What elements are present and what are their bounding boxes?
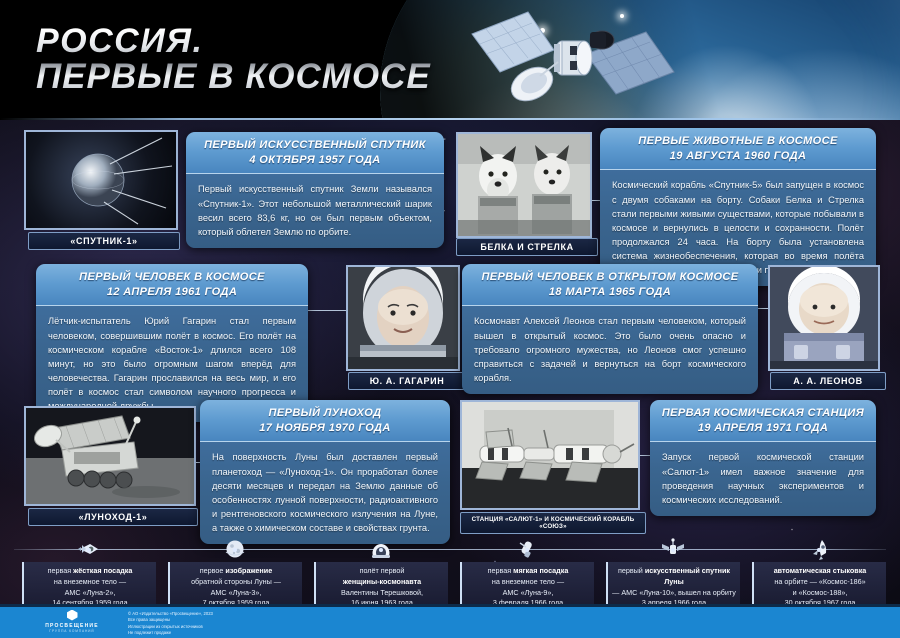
sputnik-photo: [24, 130, 178, 230]
dogs-photo: [456, 132, 592, 238]
timeline-tick: [671, 548, 675, 552]
title-line-1: РОССИЯ.: [36, 22, 203, 60]
footer-top-rule: [0, 604, 900, 607]
timeline-axis: [14, 549, 886, 550]
timeline-tick: [817, 548, 821, 552]
timeline-bold-1: искусственный спутник Луны: [645, 566, 730, 586]
timeline-line-2: на внеземное тело —: [492, 577, 564, 586]
card-header: ПЕРВЫЙ ИСКУССТВЕННЫЙ СПУТНИК 4 ОКТЯБРЯ 1…: [186, 132, 444, 174]
leonov-spacesuit-art: [770, 267, 878, 369]
card-date: 17 НОЯБРЯ 1970 ГОДА: [208, 421, 442, 436]
sputnik-photo-caption: «СПУТНИК-1»: [28, 232, 180, 250]
page-title: РОССИЯ. ПЕРВЫЕ В КОСМОСЕ: [36, 24, 431, 96]
logo-subtitle: ГРУППА КОМПАНИЙ: [49, 629, 94, 633]
card-body: Запуск первой космической станции «Салют…: [650, 442, 876, 516]
timeline-line-1: первая: [48, 566, 74, 575]
salyut-photo-caption: СТАНЦИЯ «САЛЮТ-1» И КОСМИЧЕСКИЙ КОРАБЛЬ …: [460, 512, 646, 534]
card-animals-in-space: ПЕРВЫЕ ЖИВОТНЫЕ В КОСМОСЕ 19 АВГУСТА 196…: [600, 128, 876, 286]
card-date: 19 АВГУСТА 1960 ГОДА: [608, 149, 868, 164]
gagarin-photo-caption: Ю. А. ГАГАРИН: [348, 372, 466, 390]
lunokhod-rover-art: [26, 408, 194, 504]
publisher-logo: ПРОСВЕЩЕНИЕ ГРУППА КОМПАНИЙ: [30, 609, 114, 633]
card-body: На поверхность Луны был доставлен первый…: [200, 442, 450, 544]
card-title: ПЕРВЫЙ ЧЕЛОВЕК В КОСМОСЕ: [79, 271, 265, 283]
card-body: Первый искусственный спутник Земли назыв…: [186, 174, 444, 248]
card-title: ПЕРВЫЙ ЧЕЛОВЕК В ОТКРЫТОМ КОСМОСЕ: [481, 271, 738, 283]
card-header: ПЕРВЫЙ ЛУНОХОД 17 НОЯБРЯ 1970 ГОДА: [200, 400, 450, 442]
timeline-bold-1: женщины-космонавта: [343, 577, 421, 586]
timeline-line-1: первое: [200, 566, 226, 575]
card-title: ПЕРВЫЙ ИСКУССТВЕННЫЙ СПУТНИК: [204, 139, 426, 151]
card-header: ПЕРВЫЙ ЧЕЛОВЕК В КОСМОСЕ 12 АПРЕЛЯ 1961 …: [36, 264, 308, 306]
logo-mark-icon: [67, 610, 78, 621]
card-title: ПЕРВЫЕ ЖИВОТНЫЕ В КОСМОСЕ: [638, 135, 837, 147]
bottom-timeline: первая жёсткая посадка на внеземное тело…: [14, 538, 886, 604]
poster-root: РОССИЯ. ПЕРВЫЕ В КОСМОСЕ «: [0, 0, 900, 638]
lunokhod-photo: [24, 406, 196, 506]
card-title: ПЕРВЫЙ ЛУНОХОД: [269, 407, 382, 419]
timeline-line-2: — АМС «Луна-10», вышел на орбиту: [612, 588, 736, 597]
timeline-line-2: Валентины Терешковой,: [341, 588, 423, 597]
footer-note-4: Не подлежит продаже: [128, 630, 358, 636]
gagarin-portrait-art: [348, 267, 458, 369]
timeline-line-1: первая: [488, 566, 514, 575]
timeline-bold-1: автоматическая стыковка: [774, 566, 867, 575]
card-sputnik-1: ПЕРВЫЙ ИСКУССТВЕННЫЙ СПУТНИК 4 ОКТЯБРЯ 1…: [186, 132, 444, 248]
header-divider: [0, 118, 900, 120]
timeline-line-2: обратной стороны Луны —: [191, 577, 281, 586]
leonov-photo: [768, 265, 880, 371]
timeline-line-3: АМС «Луна-2»,: [65, 588, 116, 597]
timeline-tick: [525, 548, 529, 552]
footer-notes: © АО «Издательство «Просвещение», 2023 В…: [128, 611, 358, 636]
card-first-spacewalk: ПЕРВЫЙ ЧЕЛОВЕК В ОТКРЫТОМ КОСМОСЕ 18 МАР…: [462, 264, 758, 394]
card-header: ПЕРВАЯ КОСМИЧЕСКАЯ СТАНЦИЯ 19 АПРЕЛЯ 197…: [650, 400, 876, 442]
card-header: ПЕРВЫЙ ЧЕЛОВЕК В ОТКРЫТОМ КОСМОСЕ 18 МАР…: [462, 264, 758, 306]
salyut-soyuz-art: [462, 402, 638, 508]
timeline-line-2: на орбите — «Космос-186»: [774, 577, 865, 586]
salyut-photo: [460, 400, 640, 510]
connector-line: [305, 310, 351, 311]
lunokhod-photo-caption: «ЛУНОХОД-1»: [28, 508, 198, 526]
timeline-tick: [233, 548, 237, 552]
leonov-photo-caption: А. А. ЛЕОНОВ: [770, 372, 886, 390]
satellite-illustration: [470, 6, 690, 118]
gagarin-photo: [346, 265, 460, 371]
timeline-tick: [379, 548, 383, 552]
card-header: ПЕРВЫЕ ЖИВОТНЫЕ В КОСМОСЕ 19 АВГУСТА 196…: [600, 128, 876, 170]
sputnik-sphere-icon: [26, 132, 176, 228]
card-date: 12 АПРЕЛЯ 1961 ГОДА: [44, 285, 300, 300]
title-line-2: ПЕРВЫЕ В КОСМОСЕ: [36, 59, 431, 95]
dogs-photo-caption: БЕЛКА И СТРЕЛКА: [456, 238, 598, 256]
card-date: 4 ОКТЯБРЯ 1957 ГОДА: [194, 153, 436, 168]
timeline-line-1: полёт первой: [360, 566, 405, 575]
card-first-man-in-space: ПЕРВЫЙ ЧЕЛОВЕК В КОСМОСЕ 12 АПРЕЛЯ 1961 …: [36, 264, 308, 422]
timeline-line-3: АМС «Луна-9»,: [503, 588, 554, 597]
timeline-tick: [87, 548, 91, 552]
card-body: Космонавт Алексей Леонов стал первым чел…: [462, 306, 758, 394]
timeline-bold-1: жёсткая посадка: [73, 566, 132, 575]
timeline-line-3: АМС «Луна-3»,: [211, 588, 262, 597]
card-date: 19 АПРЕЛЯ 1971 ГОДА: [658, 421, 868, 436]
timeline-line-3: и «Космос-188»,: [793, 588, 848, 597]
timeline-bold-1: изображение: [225, 566, 272, 575]
belka-strelka-photo-art: [458, 134, 590, 236]
timeline-bold-1: мягкая посадка: [513, 566, 568, 575]
footer-bar: ПРОСВЕЩЕНИЕ ГРУППА КОМПАНИЙ © АО «Издате…: [0, 604, 900, 638]
timeline-line-2: на внеземное тело —: [54, 577, 126, 586]
card-lunokhod: ПЕРВЫЙ ЛУНОХОД 17 НОЯБРЯ 1970 ГОДА На по…: [200, 400, 450, 544]
card-first-space-station: ПЕРВАЯ КОСМИЧЕСКАЯ СТАНЦИЯ 19 АПРЕЛЯ 197…: [650, 400, 876, 516]
card-title: ПЕРВАЯ КОСМИЧЕСКАЯ СТАНЦИЯ: [662, 407, 864, 419]
timeline-line-1: первый: [618, 566, 645, 575]
header-banner: РОССИЯ. ПЕРВЫЕ В КОСМОСЕ: [0, 0, 900, 120]
card-date: 18 МАРТА 1965 ГОДА: [470, 285, 750, 300]
